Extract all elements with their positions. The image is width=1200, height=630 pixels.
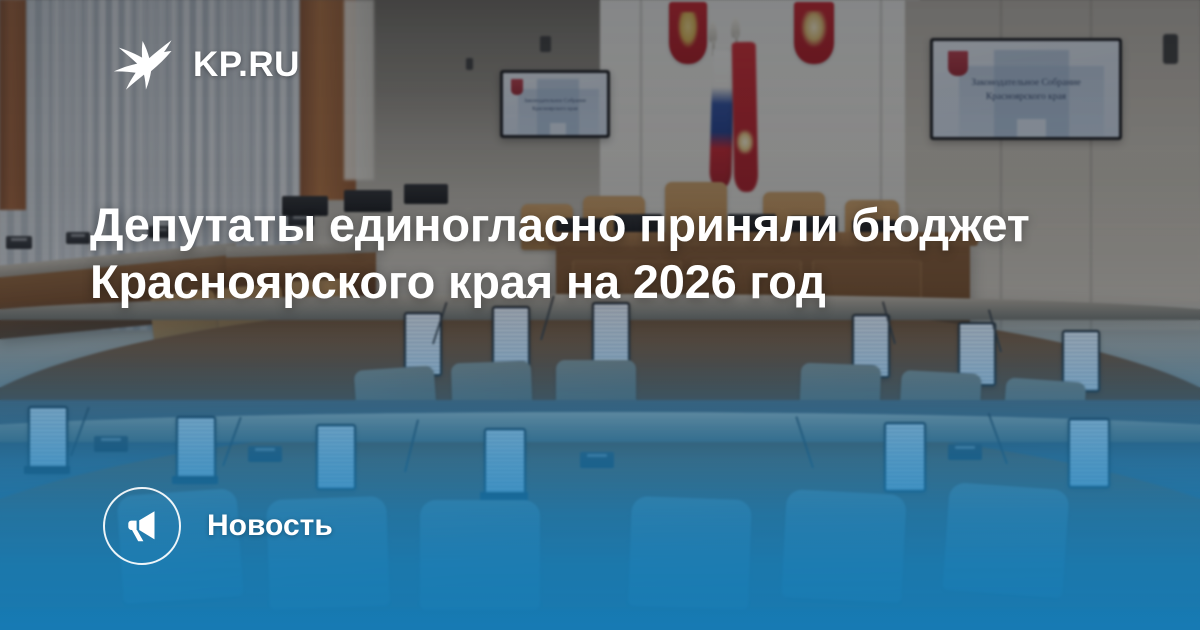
- delegate-tablet: [316, 424, 356, 490]
- kp-logo-text: KP.RU: [193, 47, 300, 82]
- news-share-card: Законодательное Собрание Красноярского к…: [0, 0, 1200, 630]
- russian-flag: [709, 48, 735, 189]
- news-badge[interactable]: Новость: [103, 487, 333, 565]
- screen-emblem: [511, 79, 522, 95]
- screen-emblem: [948, 51, 968, 76]
- delegate-chair: [781, 489, 906, 603]
- microphone-base: [94, 436, 128, 452]
- display-screen-left: Законодательное Собрание Красноярского к…: [500, 70, 610, 138]
- microphone-base: [580, 452, 614, 468]
- tablet-base: [172, 476, 218, 484]
- delegate-tablet: [592, 302, 630, 366]
- krasnoyarsk-coat-of-arms: [794, 2, 834, 64]
- microphone-base: [948, 444, 982, 460]
- wall-sensor: [466, 58, 473, 70]
- ceiling-camera: [540, 36, 551, 52]
- kp-logo[interactable]: KP.RU: [108, 38, 300, 90]
- microphone-base: [6, 236, 32, 249]
- page-title: Депутаты единогласно приняли бюджет Крас…: [90, 196, 1050, 311]
- wall-speaker: [1163, 34, 1178, 64]
- russia-coat-of-arms: [669, 2, 707, 64]
- delegate-chair: [628, 496, 752, 610]
- display-screen-right: Законодательное Собрание Красноярского к…: [930, 38, 1122, 140]
- news-badge-label: Новость: [207, 511, 333, 541]
- delegate-tablet: [28, 406, 68, 472]
- screen-right-caption: Законодательное Собрание Красноярского к…: [933, 77, 1119, 105]
- microphone-base: [248, 446, 282, 462]
- krasnoyarsk-flag: [732, 42, 759, 192]
- delegate-tablet: [1068, 418, 1110, 488]
- wall-pier: [344, 0, 374, 180]
- delegate-chair: [942, 482, 1069, 598]
- screen-left-caption: Законодательное Собрание Красноярского к…: [503, 98, 607, 114]
- delegate-chair: [420, 500, 540, 610]
- tablet-base: [24, 466, 70, 474]
- delegate-tablet: [884, 422, 926, 492]
- wood-column-left: [0, 0, 26, 210]
- swallow-bird-icon: [108, 38, 174, 90]
- delegate-tablet: [484, 428, 526, 498]
- delegate-tablet: [176, 416, 216, 482]
- microphone-base: [66, 232, 90, 244]
- megaphone-icon: [103, 487, 181, 565]
